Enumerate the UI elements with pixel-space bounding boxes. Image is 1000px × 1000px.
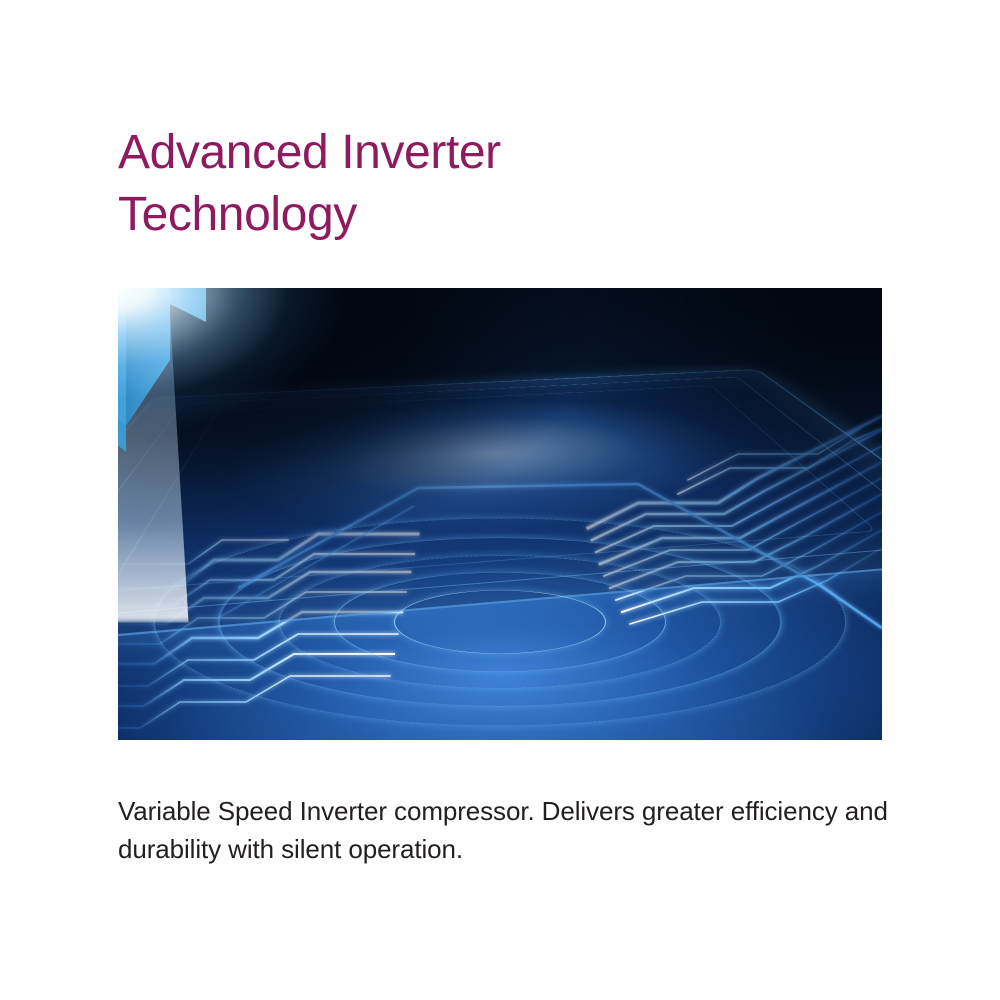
core-glow bbox=[118, 288, 353, 438]
feature-image bbox=[118, 288, 882, 740]
feature-description: Variable Speed Inverter compressor. Deli… bbox=[118, 792, 888, 868]
page-title: Advanced Inverter Technology bbox=[118, 122, 758, 246]
feature-card: Advanced Inverter Technology bbox=[0, 0, 1000, 1000]
